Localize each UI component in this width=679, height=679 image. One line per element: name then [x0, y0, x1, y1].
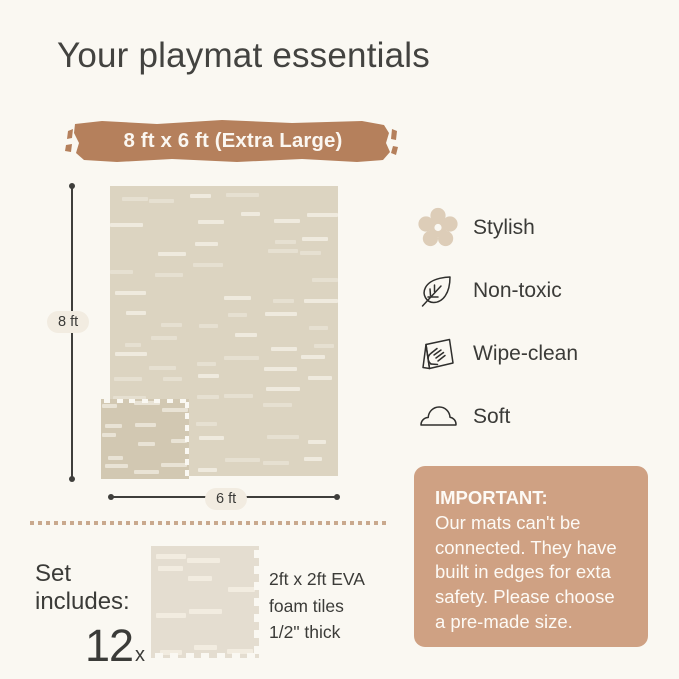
set-includes-line2: includes:	[35, 588, 145, 616]
feature-label: Stylish	[473, 216, 535, 240]
flower-icon	[415, 205, 461, 251]
tile-count-suffix: x	[135, 644, 145, 666]
cloud-icon	[415, 394, 461, 440]
set-includes-count: 12x	[35, 620, 145, 672]
set-includes-block: Set includes: 12x	[35, 560, 145, 672]
foam-tile-illustration	[151, 546, 259, 658]
dotted-divider	[30, 521, 386, 525]
feature-item-wipe-clean: Wipe-clean	[415, 322, 645, 385]
feature-item-soft: Soft	[415, 385, 645, 448]
important-title: IMPORTANT:	[435, 486, 627, 511]
feature-item-stylish: Stylish	[415, 196, 645, 259]
playmat-single-tile-overlay	[101, 399, 189, 479]
set-includes-line1: Set	[35, 560, 145, 588]
size-badge-label: 8 ft x 6 ft (Extra Large)	[62, 119, 398, 163]
tile-description-line3: 1/2" thick	[269, 619, 419, 646]
tile-description-line2: foam tiles	[269, 593, 419, 620]
feature-label: Wipe-clean	[473, 342, 578, 366]
feature-list: Stylish Non-toxic	[415, 196, 645, 448]
leaf-icon	[415, 268, 461, 314]
height-label: 8 ft	[47, 311, 89, 333]
size-badge: 8 ft x 6 ft (Extra Large)	[62, 119, 398, 163]
tile-count: 12	[85, 620, 133, 671]
important-body: Our mats can't be connected. They have b…	[435, 511, 627, 635]
feature-item-non-toxic: Non-toxic	[415, 259, 645, 322]
page-title: Your playmat essentials	[57, 36, 430, 76]
infographic-stage: Your playmat essentials 8 ft x 6 ft (Ext…	[0, 0, 679, 679]
important-notice-box: IMPORTANT: Our mats can't be connected. …	[414, 466, 648, 647]
wipe-clean-icon	[415, 331, 461, 377]
tile-description: 2ft x 2ft EVA foam tiles 1/2" thick	[269, 566, 419, 646]
tile-description-line1: 2ft x 2ft EVA	[269, 566, 419, 593]
width-label: 6 ft	[205, 488, 247, 510]
feature-label: Soft	[473, 405, 510, 429]
feature-label: Non-toxic	[473, 279, 562, 303]
